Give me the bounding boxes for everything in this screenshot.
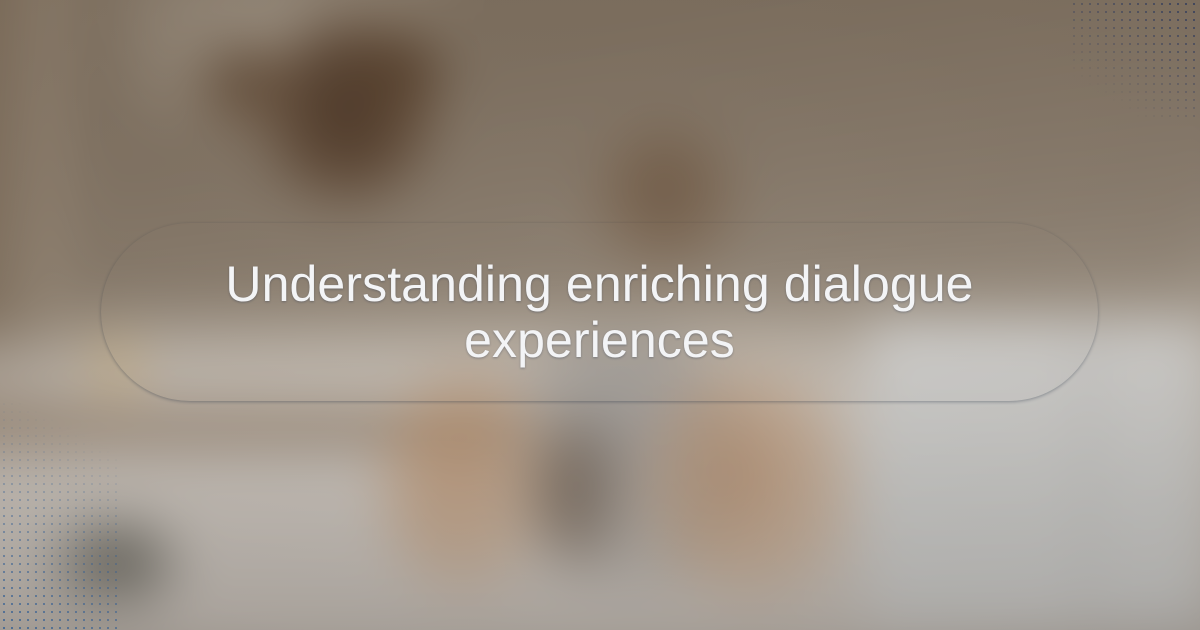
social-share-card: Understanding enriching dialogue experie… <box>0 0 1200 630</box>
background-dark-object <box>50 520 180 610</box>
background-arm-left <box>380 370 550 590</box>
background-shadow-pocket <box>530 410 620 570</box>
title-pill: Understanding enriching dialogue experie… <box>101 223 1098 401</box>
background-hair-bun-right <box>358 22 450 122</box>
background-hair-bun-left <box>202 42 288 128</box>
page-title: Understanding enriching dialogue experie… <box>170 256 1030 368</box>
background-panel-seam <box>1080 320 1094 630</box>
